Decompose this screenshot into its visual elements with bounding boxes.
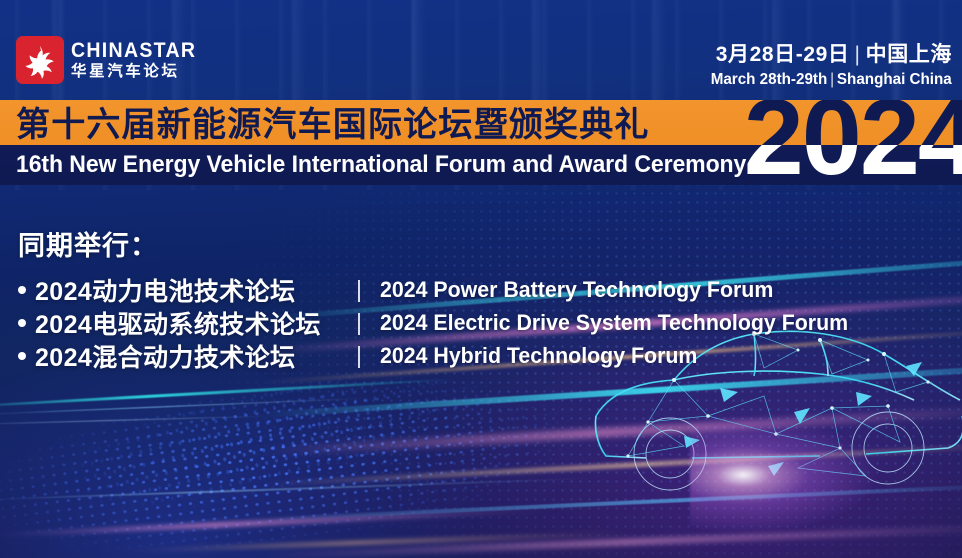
date-en: March 28th-29th [711,71,828,88]
event-separator: | [356,342,362,369]
title-band-orange: 第十六届新能源汽车国际论坛暨颁奖典礼 2024 [0,100,962,145]
date-separator-en: | [827,71,837,88]
brand-logo[interactable]: CHINASTAR 华星汽车论坛 [16,36,206,84]
title-band-navy: 16th New Energy Vehicle International Fo… [0,145,962,185]
headlight-flare [690,415,880,535]
date-cn: 3月28日-29日 [716,43,850,66]
event-name-cn: 2024电驱动系统技术论坛 [35,305,321,341]
brand-name-cn: 华星汽车论坛 [71,63,206,80]
brand-name-en: CHINASTAR [71,40,196,62]
concurrent-events-block: 同期举行： 2024动力电池技术论坛 | 2024 Power Battery … [18,224,918,372]
date-location-cn: 3月28日-29日|中国上海 [698,42,952,68]
event-name-cn: 2024动力电池技术论坛 [35,272,295,308]
chinastar-star-icon [16,36,64,84]
year-numeral-bottom: 2024 [744,145,962,185]
page-title-cn: 第十六届新能源汽车国际论坛暨颁奖典礼 [16,100,650,144]
light-streak [0,377,460,409]
date-location-en: March 28th-29th|Shanghai China [711,70,952,91]
light-streak [0,397,380,416]
light-streak [0,415,290,426]
event-name-en: 2024 Power Battery Technology Forum [380,277,773,303]
events-heading: 同期举行： [18,224,918,263]
event-name-cn: 2024混合动力技术论坛 [35,338,295,374]
light-streak [120,531,640,553]
bullet-icon [18,352,26,360]
event-name-en: 2024 Electric Drive System Technology Fo… [380,310,848,336]
light-streak [0,477,610,501]
event-list-item: 2024电驱动系统技术论坛 | 2024 Electric Drive Syst… [18,306,918,339]
poster-canvas: CHINASTAR 华星汽车论坛 3月28日-29日|中国上海 March 28… [0,0,962,558]
date-separator: | [850,43,866,66]
light-beam [262,442,962,487]
brand-logo-text: CHINASTAR 华星汽车论坛 [71,40,206,80]
date-location-block: 3月28日-29日|中国上海 March 28th-29th|Shanghai … [698,42,952,91]
event-separator: | [356,309,362,336]
light-streak [0,507,550,537]
bullet-icon [18,319,26,327]
event-list-item: 2024混合动力技术论坛 | 2024 Hybrid Technology Fo… [18,339,918,372]
location-cn: 中国上海 [866,43,952,66]
light-beam [262,483,962,521]
event-name-en: 2024 Hybrid Technology Forum [380,343,697,369]
year-numeral-top: 2024 [744,100,962,145]
light-beam [263,364,962,418]
page-title-en: 16th New Energy Vehicle International Fo… [16,145,746,185]
event-separator: | [356,276,362,303]
light-beam [262,405,962,456]
light-beam [262,523,962,558]
location-en: Shanghai China [837,71,952,88]
bullet-icon [18,286,26,294]
event-list-item: 2024动力电池技术论坛 | 2024 Power Battery Techno… [18,273,918,306]
